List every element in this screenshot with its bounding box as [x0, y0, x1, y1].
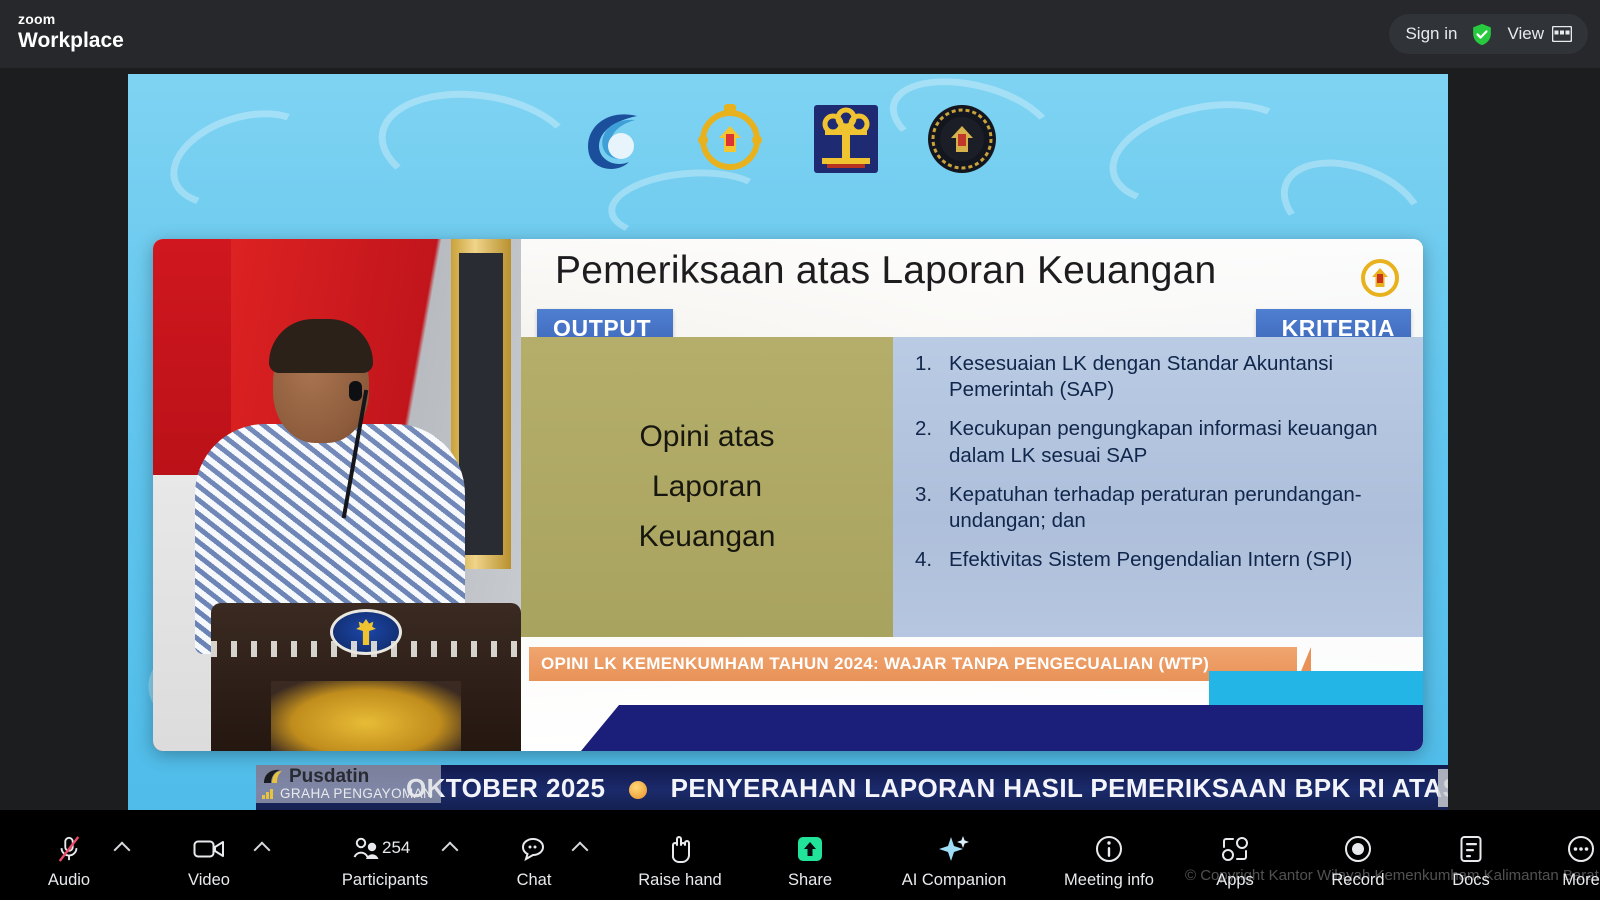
- meeting-info-button[interactable]: Meeting info: [1046, 820, 1172, 890]
- video-button[interactable]: Video: [166, 820, 252, 890]
- speaker-video-tile[interactable]: [153, 239, 521, 751]
- title-bar: zoom Workplace Sign in View: [0, 0, 1600, 68]
- list-item-text: Kecukupan pengungkapan informasi keuanga…: [949, 417, 1378, 466]
- presentation-card: Pemeriksaan atas Laporan Keuangan OUTPUT…: [153, 239, 1423, 751]
- kriteria-list: 1. Kesesuaian LK dengan Standar Akuntans…: [907, 351, 1405, 574]
- kominfo-wave-logo: [577, 102, 651, 176]
- ticker-clock: 10:24:40: [1438, 769, 1448, 807]
- pusdatin-subtitle-row: GRAHA PENGAYOMAN: [262, 786, 441, 801]
- garuda-gold-emblem-logo: [693, 102, 767, 176]
- view-button[interactable]: View: [1507, 24, 1572, 44]
- camera-icon: [193, 834, 225, 864]
- apps-icon: [1221, 834, 1249, 864]
- docs-button[interactable]: Docs: [1434, 820, 1508, 890]
- audio-button[interactable]: Audio: [26, 820, 112, 890]
- ticker-separator-dot-icon: [629, 781, 647, 799]
- gold-frame-inner: [459, 253, 503, 555]
- apps-label: Apps: [1216, 871, 1254, 890]
- chat-bubble-icon: [520, 834, 548, 864]
- slide-footer-cyan-accent: [1209, 671, 1423, 705]
- pusdatin-title: Pusdatin: [289, 766, 369, 788]
- list-item: 1. Kesesuaian LK dengan Standar Akuntans…: [907, 351, 1405, 403]
- list-item-text: Kesesuaian LK dengan Standar Akuntansi P…: [949, 352, 1333, 401]
- sign-in-button[interactable]: Sign in: [1405, 24, 1457, 44]
- chat-options-chevron-icon[interactable]: [572, 842, 589, 859]
- meeting-toolbar: Audio Video: [0, 810, 1600, 900]
- output-line-1: Opini atas: [639, 420, 774, 454]
- list-item-number: 4.: [915, 547, 945, 573]
- docs-label: Docs: [1452, 871, 1490, 890]
- speaker-podium: [211, 603, 521, 751]
- brand-workplace-text: Workplace: [18, 30, 124, 51]
- more-button[interactable]: More: [1544, 820, 1600, 890]
- list-item-text: Efektivitas Sistem Pengendalian Intern (…: [949, 548, 1352, 571]
- shield-check-icon: [1471, 23, 1493, 46]
- list-item: 2. Kecukupan pengungkapan informasi keua…: [907, 416, 1405, 468]
- broadcast-ticker: OKTOBER 2025 PENYERAHAN LAPORAN HASIL PE…: [256, 765, 1448, 811]
- podium-ornament-band: [211, 641, 521, 657]
- output-line-2: Laporan: [652, 470, 762, 504]
- ticker-headline: PENYERAHAN LAPORAN HASIL PEMERIKSAAN BPK…: [671, 773, 1448, 803]
- meeting-stage: Pemeriksaan atas Laporan Keuangan OUTPUT…: [0, 68, 1600, 810]
- signal-bars-icon: [262, 787, 276, 799]
- raise-hand-icon: [667, 834, 693, 864]
- ai-companion-button[interactable]: AI Companion: [890, 820, 1018, 890]
- slide-title: Pemeriksaan atas Laporan Keuangan: [555, 249, 1337, 293]
- output-panel: Opini atas Laporan Keuangan: [521, 337, 893, 637]
- zoom-workplace-logo: zoom Workplace: [18, 12, 124, 51]
- kriteria-panel: 1. Kesesuaian LK dengan Standar Akuntans…: [893, 337, 1423, 637]
- share-screen-icon: [795, 834, 825, 864]
- ai-companion-label: AI Companion: [902, 871, 1007, 890]
- garuda-seal-icon: [1357, 255, 1403, 301]
- list-item-number: 1.: [915, 351, 945, 377]
- record-label: Record: [1331, 871, 1384, 890]
- microphone-muted-icon: [56, 834, 82, 864]
- list-item: 4. Efektivitas Sistem Pengendalian Inter…: [907, 547, 1405, 573]
- list-item-text: Kepatuhan terhadap peraturan perundangan…: [949, 483, 1362, 532]
- record-circle-icon: [1344, 834, 1372, 864]
- participants-button[interactable]: 254 Participants: [330, 820, 440, 890]
- ticker-content: OKTOBER 2025 PENYERAHAN LAPORAN HASIL PE…: [406, 773, 1448, 804]
- share-label: Share: [788, 871, 832, 890]
- view-label: View: [1507, 24, 1544, 44]
- opini-banner: OPINI LK KEMENKUMHAM TAHUN 2024: WAJAR T…: [529, 647, 1297, 681]
- share-button[interactable]: Share: [772, 820, 848, 890]
- podium-gold-carving: [271, 681, 461, 751]
- apps-button[interactable]: Apps: [1198, 820, 1272, 890]
- raise-hand-button[interactable]: Raise hand: [626, 820, 734, 890]
- audio-label: Audio: [48, 871, 90, 890]
- pusdatin-subtitle: GRAHA PENGAYOMAN: [280, 786, 433, 801]
- pusdatin-watermark: Pusdatin GRAHA PENGAYOMAN: [256, 765, 441, 803]
- participants-label: Participants: [342, 871, 428, 890]
- top-right-controls: Sign in View: [1389, 14, 1588, 54]
- chat-button[interactable]: Chat: [498, 820, 570, 890]
- video-options-chevron-icon[interactable]: [254, 842, 271, 859]
- pusdatin-logo-icon: [262, 767, 284, 787]
- layout-grid-icon: [1552, 26, 1572, 42]
- people-icon: [352, 834, 382, 864]
- info-circle-icon: [1095, 834, 1123, 864]
- list-item-number: 3.: [915, 482, 945, 508]
- microphone-head: [349, 381, 362, 401]
- audio-options-chevron-icon[interactable]: [114, 842, 131, 859]
- toolbar-items: Audio Video: [0, 820, 1600, 890]
- sign-in-label: Sign in: [1405, 24, 1457, 44]
- chat-label: Chat: [517, 871, 552, 890]
- document-icon: [1459, 834, 1483, 864]
- slide-content: Pemeriksaan atas Laporan Keuangan OUTPUT…: [521, 239, 1423, 751]
- video-label: Video: [188, 871, 230, 890]
- output-line-3: Keuangan: [639, 520, 776, 554]
- pusdatin-title-row: Pusdatin: [262, 766, 441, 788]
- participants-count: 254: [382, 838, 410, 858]
- participants-options-chevron-icon[interactable]: [442, 842, 459, 859]
- ai-sparkle-icon: [939, 834, 969, 864]
- shared-screen-content[interactable]: Pemeriksaan atas Laporan Keuangan OUTPUT…: [128, 74, 1448, 811]
- record-button[interactable]: Record: [1316, 820, 1400, 890]
- brand-zoom-text: zoom: [18, 12, 124, 26]
- list-item: 3. Kepatuhan terhadap peraturan perundan…: [907, 482, 1405, 534]
- institution-logos: [128, 102, 1448, 176]
- more-label: More: [1562, 871, 1600, 890]
- list-item-number: 2.: [915, 416, 945, 442]
- raise-hand-label: Raise hand: [638, 871, 721, 890]
- garuda-dark-seal-logo: [925, 102, 999, 176]
- pengayoman-kemenkumham-logo: [809, 102, 883, 176]
- meeting-info-label: Meeting info: [1064, 871, 1154, 890]
- slide-footer-band: [581, 705, 1423, 751]
- ellipsis-icon: [1567, 834, 1595, 864]
- zoom-meeting-window: zoom Workplace Sign in View: [0, 0, 1600, 900]
